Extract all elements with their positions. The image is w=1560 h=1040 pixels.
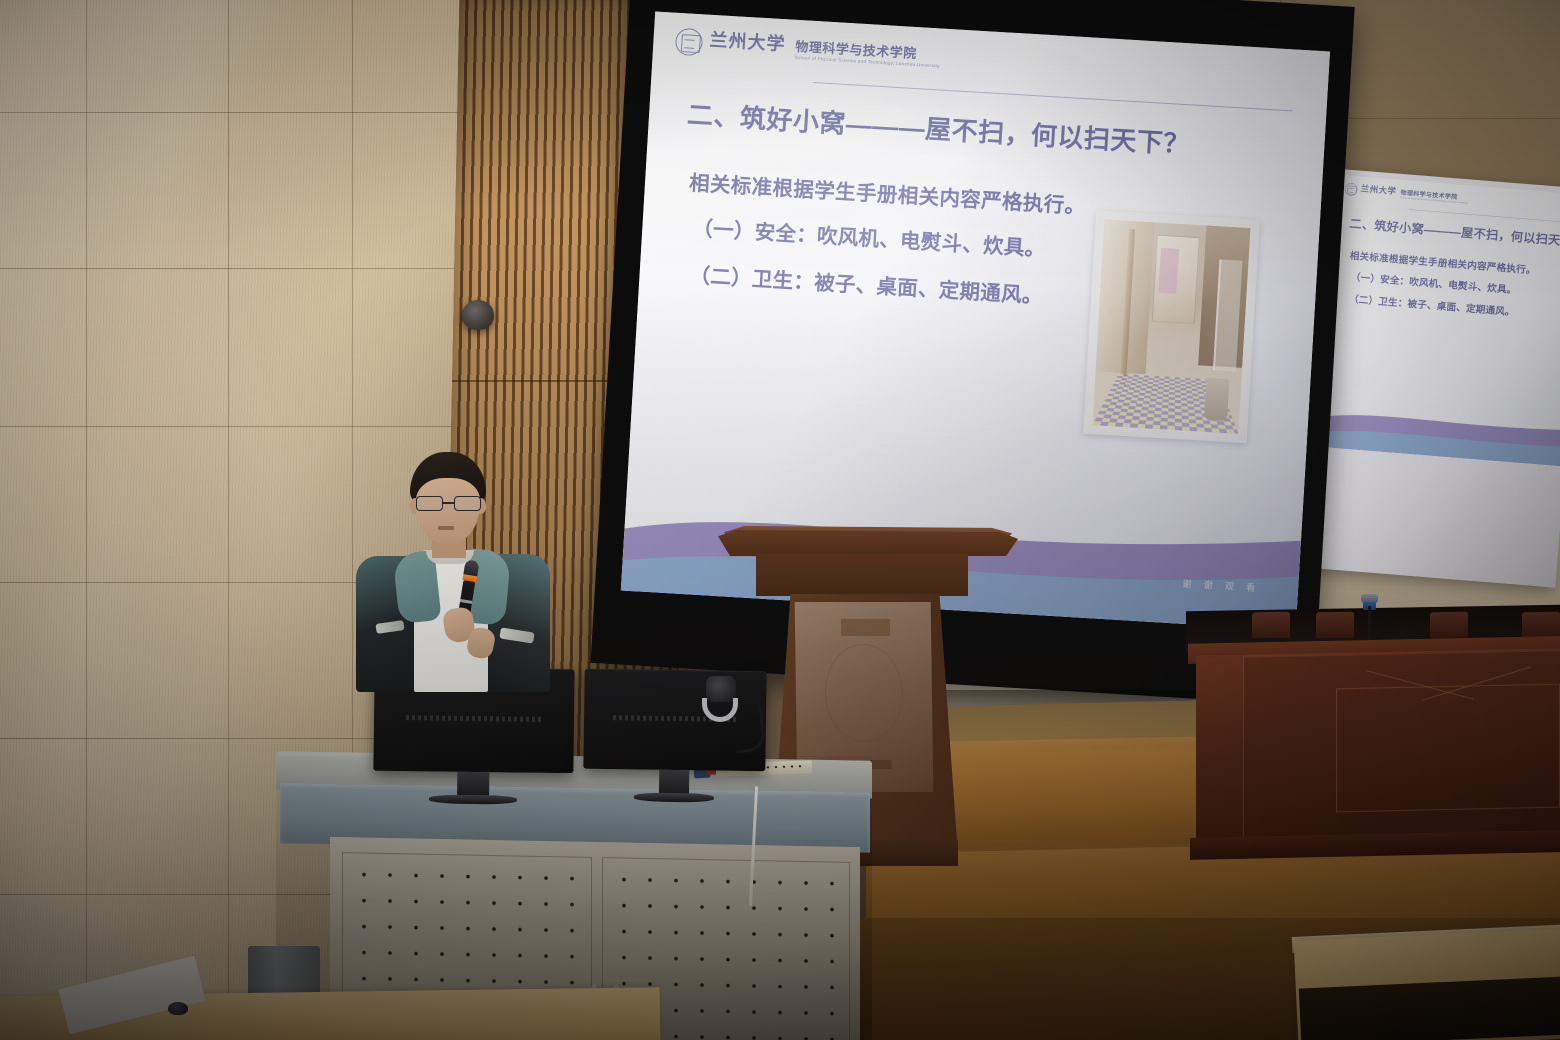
lecture-hall-photo: 兰州大学 物理科学与技术学院 School of Physical Scienc… [0, 0, 1560, 1040]
secondary-slide-content: 兰州大学 物理科学与技术学院 School of Physical Scienc… [1314, 175, 1560, 472]
institution-name: 兰州大学 [709, 31, 786, 53]
conference-table-diamond-carving [1346, 692, 1550, 802]
conference-chair-back [1430, 612, 1468, 639]
podium-neck [756, 554, 968, 596]
podium-top-slab [718, 530, 1018, 556]
slide-bullet-hygiene: （二）卫生：被子、桌面、定期通风。 [689, 265, 1126, 314]
foreground-mouse [168, 1002, 188, 1015]
secondary-institution-name: 兰州大学 [1360, 184, 1396, 195]
document-camera-arm [700, 676, 740, 748]
conference-chair-back [1522, 612, 1560, 639]
presenter [352, 452, 552, 692]
face [416, 478, 480, 544]
podium-plaque [841, 619, 890, 636]
secondary-bullet-2: （二）卫生：被子、桌面、定期通风。 [1349, 294, 1554, 321]
secondary-slide-bullets: （一）安全：吹风机、电熨斗、炊具。 （二）卫生：被子、桌面、定期通风。 [1348, 272, 1556, 332]
dorm-trash-bin [1204, 378, 1230, 421]
conference-chair-back [1252, 612, 1290, 639]
glasses-icon [414, 496, 484, 511]
conference-table-side-panel [1196, 655, 1244, 844]
lanzhou-university-seal-icon [675, 28, 704, 57]
slide-photo-frame [1083, 210, 1260, 443]
slide-photo-dorm-corridor [1092, 219, 1250, 433]
conference-chair-back [1316, 612, 1354, 639]
gooseneck-mic-stem [1368, 606, 1371, 640]
podium-emblem-icon [824, 644, 903, 742]
slide-bullet-safety: （一）安全：吹风机、电熨斗、炊具。 [692, 218, 1129, 267]
wall-speaker-dome [462, 300, 494, 330]
lanzhou-university-seal-icon [1344, 182, 1358, 196]
mouth [438, 526, 454, 530]
gooseneck-microphone [1366, 594, 1372, 638]
secondary-slide-wave [1314, 392, 1560, 472]
slide-bullet-list: （一）安全：吹风机、电熨斗、炊具。 （二）卫生：被子、桌面、定期通风。 [687, 218, 1128, 338]
